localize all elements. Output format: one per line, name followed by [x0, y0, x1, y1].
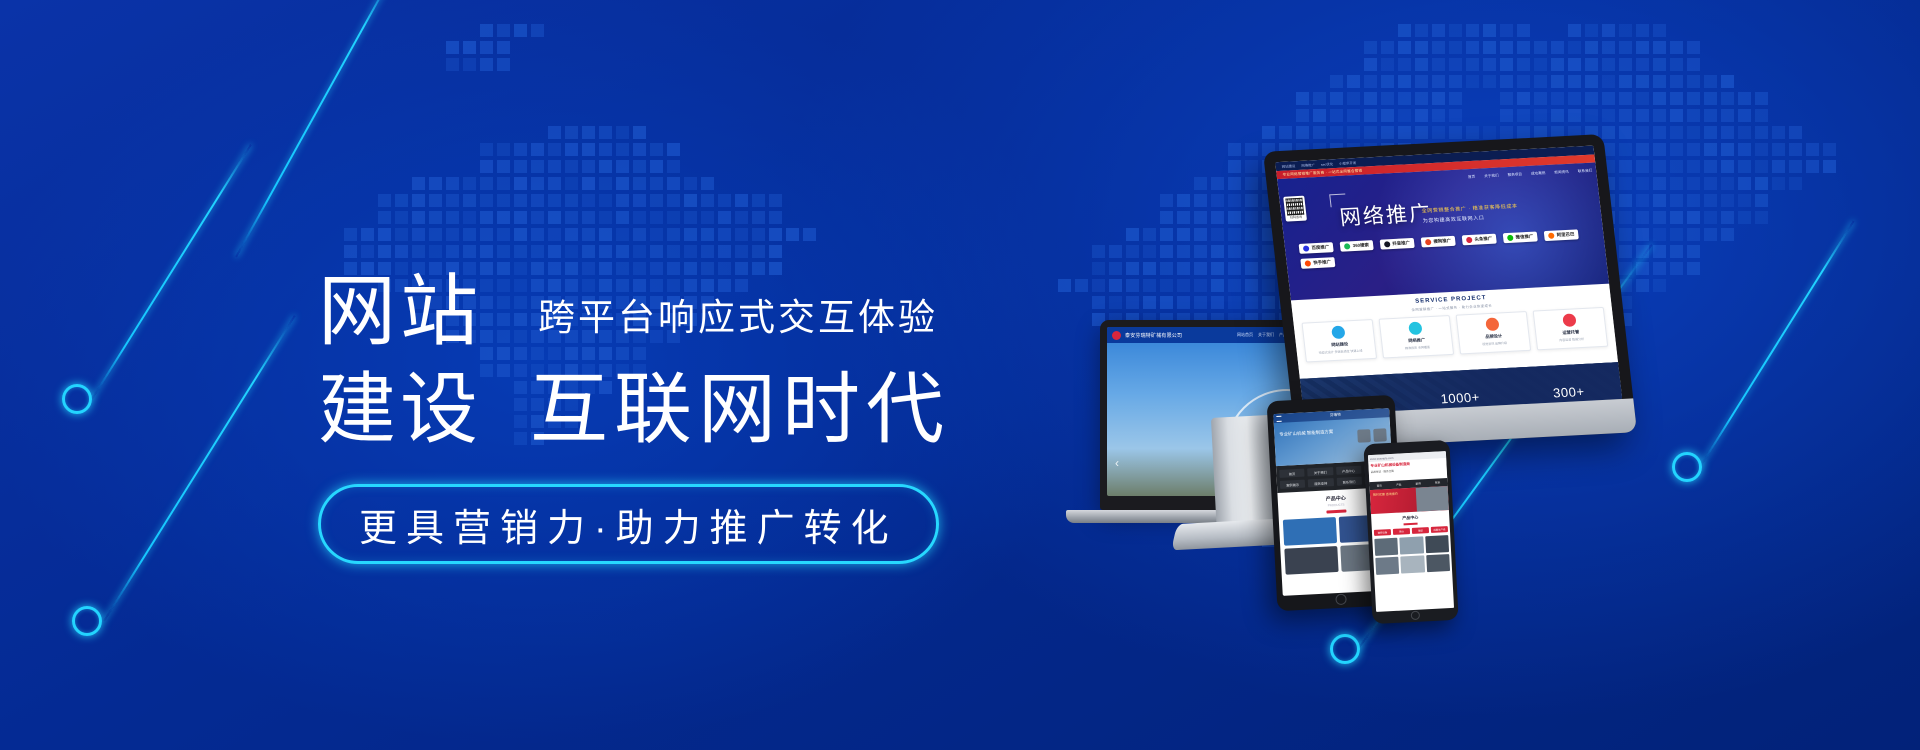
map-dot — [497, 228, 510, 241]
map-dot — [395, 228, 408, 241]
map-dot — [684, 194, 697, 207]
map-dot — [412, 177, 425, 190]
map-dot — [701, 194, 714, 207]
map-dot — [1704, 160, 1717, 173]
map-dot — [480, 41, 493, 54]
map-dot — [1704, 177, 1717, 190]
map-dot — [599, 211, 612, 224]
phone-tag[interactable]: 破碎设备 — [1374, 529, 1391, 536]
map-dot — [1296, 92, 1309, 105]
platform-chip-icon — [1425, 239, 1432, 245]
map-dot — [480, 143, 493, 156]
map-dot — [582, 126, 595, 139]
service-card[interactable]: 运营托管内容运营 数据分析 — [1533, 306, 1609, 350]
map-dot — [548, 177, 561, 190]
map-dot — [1330, 92, 1343, 105]
service-card-desc: 响应式设计 多端自适应 快速上线 — [1309, 348, 1373, 356]
headline-line-2: 建设 — [318, 370, 482, 448]
phone-product-tile[interactable] — [1401, 555, 1425, 573]
platform-chip[interactable]: 阿里巴巴 — [1544, 229, 1579, 241]
map-dot — [650, 194, 663, 207]
platform-chip-icon — [1466, 237, 1473, 243]
map-dot — [1347, 92, 1360, 105]
platform-chip-icon — [1303, 245, 1310, 251]
map-dot — [1670, 58, 1683, 71]
diagonal-light-line-3 — [235, 0, 397, 257]
service-card-desc: 内容运营 数据分析 — [1540, 335, 1604, 343]
tablet-product-tile[interactable] — [1283, 517, 1337, 546]
map-dot — [429, 211, 442, 224]
map-dot — [1619, 92, 1632, 105]
map-dot — [1483, 41, 1496, 54]
map-dot — [1619, 58, 1632, 71]
map-dot — [769, 194, 782, 207]
map-dot — [616, 160, 629, 173]
diagonal-light-line-4 — [1699, 221, 1854, 468]
map-dot — [1551, 92, 1564, 105]
map-dot — [463, 245, 476, 258]
monitor-hero-title: 网络推广 — [1338, 197, 1433, 232]
map-dot — [463, 177, 476, 190]
map-dot — [684, 177, 697, 190]
monitor-topstrip-item[interactable]: 网站建设 — [1281, 163, 1295, 169]
map-dot — [514, 194, 527, 207]
map-dot — [1653, 75, 1666, 88]
map-dot — [718, 228, 731, 241]
map-dot — [1823, 160, 1836, 173]
map-dot — [616, 228, 629, 241]
tablet-site-logo: 芬瑞特 — [1330, 413, 1341, 419]
map-dot — [1721, 211, 1734, 224]
map-dot — [701, 177, 714, 190]
map-dot — [1415, 92, 1428, 105]
tablet-menu-item[interactable]: 关于我们 — [1307, 467, 1333, 476]
map-dot — [514, 24, 527, 37]
map-dot — [378, 245, 391, 258]
map-dot — [718, 211, 731, 224]
monitor-nav-item[interactable]: 成功案例 — [1531, 171, 1546, 177]
map-dot — [1517, 41, 1530, 54]
map-dot — [1755, 92, 1768, 105]
map-dot — [1772, 160, 1785, 173]
headline-accent: 互联网时代 — [530, 370, 950, 448]
map-dot — [412, 245, 425, 258]
map-dot — [1636, 75, 1649, 88]
map-dot — [497, 58, 510, 71]
map-dot — [548, 143, 561, 156]
phone-section-title: 产品中心 — [1371, 513, 1449, 523]
map-dot — [1449, 41, 1462, 54]
map-dot — [429, 228, 442, 241]
map-dot — [1755, 143, 1768, 156]
monitor-hero-sub-1: 全网营销整合推广 · 精准获客降低成本 — [1421, 203, 1518, 215]
map-dot — [582, 228, 595, 241]
phone-tag[interactable]: 输送 — [1412, 527, 1429, 534]
map-dot — [1755, 194, 1768, 207]
platform-chip[interactable]: 百度推广 — [1299, 242, 1334, 254]
map-dot — [1721, 228, 1734, 241]
headline-row-top: 网站 跨平台响应式交互体验 — [318, 272, 1078, 350]
map-dot — [1636, 92, 1649, 105]
map-dot — [616, 177, 629, 190]
tablet-menu-item[interactable]: 案例展示 — [1280, 480, 1306, 489]
map-dot — [1432, 41, 1445, 54]
map-dot — [446, 58, 459, 71]
platform-chip[interactable]: 抖音推广 — [1379, 238, 1414, 250]
map-dot — [1738, 194, 1751, 207]
banner-text-block: 网站 跨平台响应式交互体验 建设 互联网时代 更具营销力·助力推广转化 — [318, 272, 1078, 564]
map-dot — [548, 194, 561, 207]
map-dot — [565, 177, 578, 190]
laptop-nav-item[interactable]: 网站首页 — [1237, 332, 1253, 338]
map-dot — [1517, 75, 1530, 88]
map-dot — [565, 160, 578, 173]
service-card[interactable]: 网站建设响应式设计 多端自适应 快速上线 — [1301, 319, 1377, 363]
map-dot — [1704, 228, 1717, 241]
map-dot — [429, 177, 442, 190]
map-dot — [684, 228, 697, 241]
map-dot — [1466, 24, 1479, 37]
map-dot — [1721, 194, 1734, 207]
tagline-badge: 更具营销力·助力推广转化 — [318, 484, 939, 564]
map-dot — [463, 228, 476, 241]
map-dot — [599, 160, 612, 173]
map-dot — [735, 211, 748, 224]
map-dot — [1738, 160, 1751, 173]
map-dot — [1415, 41, 1428, 54]
service-card-desc: 精准投放 全网覆盖 — [1386, 344, 1450, 352]
headline-line-1: 网站 — [318, 272, 482, 350]
map-dot — [1704, 211, 1717, 224]
monitor-topstrip-item[interactable]: 网络推广 — [1301, 162, 1315, 168]
map-dot — [548, 245, 561, 258]
diagonal-light-line-1 — [91, 144, 252, 399]
map-dot — [1619, 41, 1632, 54]
map-dot — [1670, 92, 1683, 105]
map-dot — [463, 194, 476, 207]
map-dot — [395, 245, 408, 258]
map-dot — [1755, 211, 1768, 224]
phone-product-tile[interactable] — [1426, 554, 1450, 572]
map-dot — [1381, 92, 1394, 105]
map-dot — [531, 211, 544, 224]
map-dot — [1687, 41, 1700, 54]
qr-code-widget: 扫码咨询 — [1283, 196, 1307, 222]
map-dot — [1483, 24, 1496, 37]
tablet-hero-text: 专业矿山机械 智能制造方案 — [1279, 429, 1333, 438]
map-dot — [1568, 58, 1581, 71]
phone-product-tile[interactable] — [1400, 536, 1424, 554]
map-dot — [1789, 160, 1802, 173]
map-dot — [633, 177, 646, 190]
map-dot — [514, 245, 527, 258]
map-dot — [616, 211, 629, 224]
map-dot — [497, 41, 510, 54]
map-dot — [446, 177, 459, 190]
map-dot — [480, 160, 493, 173]
map-dot — [1500, 75, 1513, 88]
map-dot — [1721, 75, 1734, 88]
map-dot — [582, 177, 595, 190]
map-dot — [1789, 177, 1802, 190]
map-dot — [599, 177, 612, 190]
map-dot — [1670, 41, 1683, 54]
map-dot — [701, 211, 714, 224]
map-dot — [463, 58, 476, 71]
map-dot — [582, 160, 595, 173]
map-dot — [1619, 75, 1632, 88]
banner-subtitle: 跨平台响应式交互体验 — [538, 299, 938, 350]
phone-promo-text: 限时优惠 咨询报价 — [1373, 492, 1398, 497]
service-card[interactable]: 网络推广精准投放 全网覆盖 — [1379, 315, 1455, 359]
map-dot — [514, 160, 527, 173]
monitor-topstrip-item[interactable]: seo优化 — [1321, 161, 1334, 167]
phone-mockup: www.example.com 专业矿山机械设备制造商 品质保证 · 服务全国 … — [1363, 440, 1458, 624]
map-dot — [565, 211, 578, 224]
marketing-banner: 网站 跨平台响应式交互体验 建设 互联网时代 更具营销力·助力推广转化 泰安芬瑞… — [0, 0, 1920, 750]
qr-code-image — [1285, 198, 1304, 216]
service-card-icon — [1408, 321, 1422, 335]
map-dot — [1568, 75, 1581, 88]
map-dot — [1551, 41, 1564, 54]
platform-chip-label: 搜狗推广 — [1433, 238, 1451, 245]
map-dot — [1449, 24, 1462, 37]
map-dot — [1364, 92, 1377, 105]
map-dot — [1534, 41, 1547, 54]
laptop-site-logo-icon — [1112, 331, 1121, 340]
map-dot — [1721, 177, 1734, 190]
map-dot — [667, 211, 680, 224]
service-card[interactable]: 品牌设计视觉呈现 品牌升级 — [1456, 310, 1532, 354]
map-dot — [1381, 58, 1394, 71]
stat-number: 300+ — [1552, 383, 1585, 400]
map-dot — [429, 194, 442, 207]
map-dot — [752, 194, 765, 207]
map-dot — [480, 211, 493, 224]
map-dot — [1551, 75, 1564, 88]
tablet-hero-product-images — [1357, 428, 1387, 442]
platform-chip-icon — [1305, 260, 1312, 266]
map-dot — [599, 126, 612, 139]
map-dot — [531, 245, 544, 258]
map-dot — [548, 211, 561, 224]
map-dot — [1738, 211, 1751, 224]
map-dot — [548, 228, 561, 241]
map-dot — [769, 211, 782, 224]
map-dot — [599, 228, 612, 241]
map-dot — [514, 143, 527, 156]
map-dot — [1619, 24, 1632, 37]
map-dot — [1602, 41, 1615, 54]
platform-chip-label: 抖音推广 — [1392, 240, 1410, 247]
platform-chip[interactable]: 搜狗推广 — [1420, 236, 1455, 248]
map-dot — [1534, 92, 1547, 105]
map-dot — [446, 228, 459, 241]
device-mockup-group: 泰安芬瑞特矿械有限公司 网站首页关于我们产品中心新闻资讯客户案例联系我们 芬瑞特… — [1080, 120, 1700, 640]
map-dot — [1364, 58, 1377, 71]
map-dot — [752, 245, 765, 258]
map-dot — [1755, 126, 1768, 139]
map-dot — [1636, 24, 1649, 37]
platform-chip-icon — [1344, 243, 1351, 249]
monitor-nav: 首页关于我们服务项目成功案例新闻资讯联系我们 — [1468, 169, 1593, 180]
map-dot — [1347, 75, 1360, 88]
map-dot — [1483, 58, 1496, 71]
light-line-ring-2 — [72, 606, 102, 636]
map-dot — [1585, 24, 1598, 37]
map-dot — [1585, 75, 1598, 88]
map-dot — [1687, 92, 1700, 105]
map-dot — [616, 245, 629, 258]
tablet-menu-item[interactable]: 服务支持 — [1308, 478, 1334, 487]
map-dot — [1789, 126, 1802, 139]
monitor-nav-item[interactable]: 联系我们 — [1578, 169, 1593, 175]
map-dot — [1738, 109, 1751, 122]
map-dot — [1721, 92, 1734, 105]
platform-chip[interactable]: 头条推广 — [1462, 234, 1497, 246]
phone-promo-block: 限时优惠 咨询报价 — [1370, 486, 1449, 514]
map-dot — [633, 228, 646, 241]
map-dot — [1432, 24, 1445, 37]
monitor-nav-item[interactable]: 服务项目 — [1507, 172, 1522, 178]
phone-tag[interactable]: 筛分 — [1393, 528, 1410, 535]
map-dot — [616, 194, 629, 207]
map-dot — [1432, 75, 1445, 88]
map-dot — [735, 194, 748, 207]
headline-row-mid: 建设 互联网时代 — [318, 370, 1078, 448]
monitor-nav-item[interactable]: 首页 — [1468, 175, 1476, 180]
map-dot — [599, 194, 612, 207]
map-dot — [582, 245, 595, 258]
map-dot — [650, 160, 663, 173]
map-dot — [769, 245, 782, 258]
map-dot — [667, 177, 680, 190]
map-dot — [395, 211, 408, 224]
map-dot — [1704, 143, 1717, 156]
map-dot — [616, 143, 629, 156]
laptop-site-name: 泰安芬瑞特矿械有限公司 — [1125, 332, 1182, 339]
stat-number: 1000+ — [1440, 389, 1481, 406]
map-dot — [1704, 194, 1717, 207]
map-dot — [412, 228, 425, 241]
map-dot — [446, 194, 459, 207]
map-dot — [582, 194, 595, 207]
map-dot — [1806, 160, 1819, 173]
map-dot — [1653, 41, 1666, 54]
map-dot — [633, 126, 646, 139]
service-card-desc: 视觉呈现 品牌升级 — [1463, 339, 1527, 347]
map-dot — [1653, 58, 1666, 71]
map-dot — [429, 245, 442, 258]
platform-chip[interactable]: 微信推广 — [1503, 231, 1538, 243]
map-dot — [701, 245, 714, 258]
map-dot — [735, 228, 748, 241]
map-dot — [633, 245, 646, 258]
map-dot — [361, 245, 374, 258]
map-dot — [1517, 58, 1530, 71]
map-dot — [667, 143, 680, 156]
phone-product-tile[interactable] — [1375, 557, 1399, 575]
tablet-home-button — [1335, 594, 1347, 606]
diagonal-light-line-2 — [103, 315, 295, 621]
map-dot — [667, 228, 680, 241]
map-dot — [565, 228, 578, 241]
map-dot — [1500, 41, 1513, 54]
map-dot — [531, 228, 544, 241]
tablet-menu-item[interactable]: 首页 — [1279, 469, 1305, 478]
phone-tag[interactable]: 成套生产线 — [1431, 526, 1448, 533]
monitor-nav-item[interactable]: 关于我们 — [1484, 174, 1499, 180]
map-dot — [480, 245, 493, 258]
platform-chip-icon — [1507, 235, 1514, 241]
map-dot — [1602, 24, 1615, 37]
phone-product-grid — [1372, 532, 1452, 578]
map-dot — [463, 41, 476, 54]
map-dot — [1432, 58, 1445, 71]
map-dot — [1449, 75, 1462, 88]
map-dot — [565, 245, 578, 258]
phone-section-underline — [1404, 523, 1418, 526]
phone-product-tile[interactable] — [1374, 538, 1398, 556]
map-dot — [667, 245, 680, 258]
map-dot — [1364, 75, 1377, 88]
map-dot — [1534, 75, 1547, 88]
map-dot — [480, 58, 493, 71]
map-dot — [1415, 24, 1428, 37]
map-dot — [1415, 75, 1428, 88]
map-dot — [565, 194, 578, 207]
map-dot — [1364, 41, 1377, 54]
platform-chip[interactable]: 快手推广 — [1300, 257, 1335, 269]
map-dot — [1636, 58, 1649, 71]
map-dot — [1585, 58, 1598, 71]
tablet-menu-item[interactable]: 产品中心 — [1336, 466, 1362, 475]
tablet-site-header: 芬瑞特 — [1273, 408, 1389, 423]
map-dot — [718, 194, 731, 207]
map-dot — [565, 143, 578, 156]
map-dot — [1704, 75, 1717, 88]
map-dot — [1789, 143, 1802, 156]
map-dot — [1534, 58, 1547, 71]
map-dot — [1670, 75, 1683, 88]
map-dot — [378, 211, 391, 224]
platform-chip-label: 头条推广 — [1474, 236, 1492, 243]
map-dot — [1687, 58, 1700, 71]
laptop-nav-item[interactable]: 关于我们 — [1258, 332, 1274, 338]
map-dot — [650, 143, 663, 156]
map-dot — [497, 24, 510, 37]
tablet-menu-item[interactable]: 联系我们 — [1336, 477, 1362, 486]
map-dot — [1517, 24, 1530, 37]
map-dot — [667, 194, 680, 207]
platform-chip-label: 阿里巴巴 — [1556, 232, 1574, 239]
platform-chip[interactable]: 360搜索 — [1340, 240, 1374, 252]
map-dot — [1602, 92, 1615, 105]
map-dot — [531, 24, 544, 37]
map-dot — [480, 24, 493, 37]
map-dot — [1398, 92, 1411, 105]
map-dot — [650, 245, 663, 258]
map-dot — [1772, 126, 1785, 139]
map-dot — [531, 160, 544, 173]
map-dot — [1483, 75, 1496, 88]
tablet-product-tile[interactable] — [1284, 546, 1338, 575]
phone-product-tile[interactable] — [1425, 535, 1449, 553]
monitor-topstrip-item[interactable]: 小程序开发 — [1339, 160, 1357, 166]
map-dot — [1704, 126, 1717, 139]
map-dot — [463, 211, 476, 224]
monitor-nav-item[interactable]: 新闻资讯 — [1554, 170, 1569, 176]
